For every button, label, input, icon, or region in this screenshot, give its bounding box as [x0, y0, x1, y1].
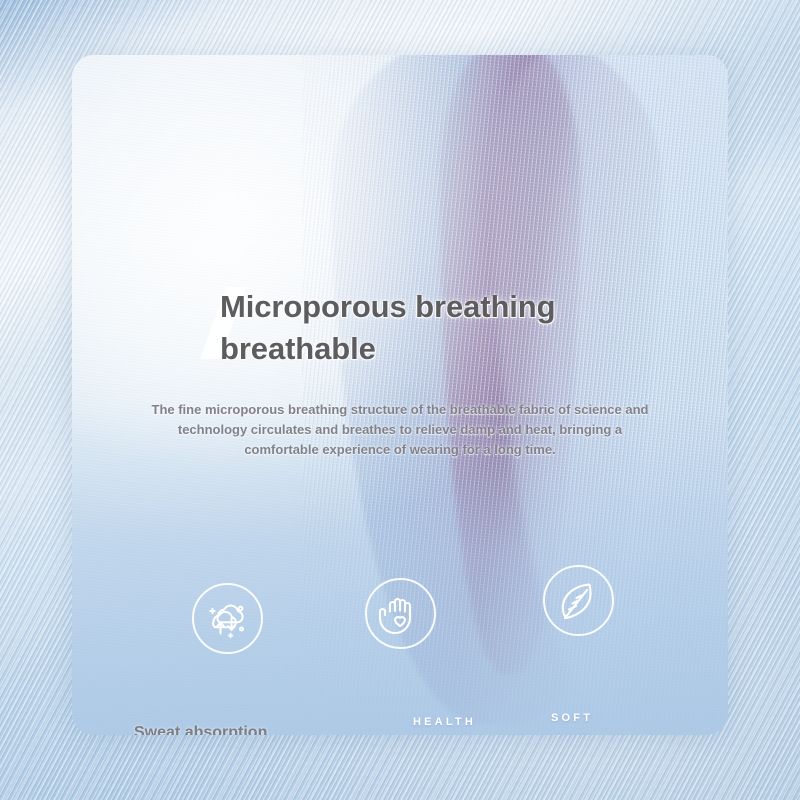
feature-eyebrow-health: HEALTH [413, 716, 476, 728]
sweat-absorption-cloud-arrows-icon [192, 583, 263, 654]
leaf-icon [543, 565, 614, 636]
feature-eyebrow-soft: SOFT [551, 712, 593, 724]
feature-card: Microporous breathing breathable The fin… [72, 55, 728, 735]
body-description: The fine microporous breathing structure… [150, 400, 650, 460]
poster-canvas: Microporous breathing breathable The fin… [0, 0, 800, 800]
page-title: Microporous breathing breathable [220, 286, 690, 370]
card-content: Microporous breathing breathable The fin… [72, 55, 728, 735]
feature-label-sweat-absorption: Sweat absorption and ventilation [134, 721, 364, 735]
feature-label-soft: Skin-friendly soft [512, 730, 728, 735]
hand-heart-icon [365, 578, 436, 649]
